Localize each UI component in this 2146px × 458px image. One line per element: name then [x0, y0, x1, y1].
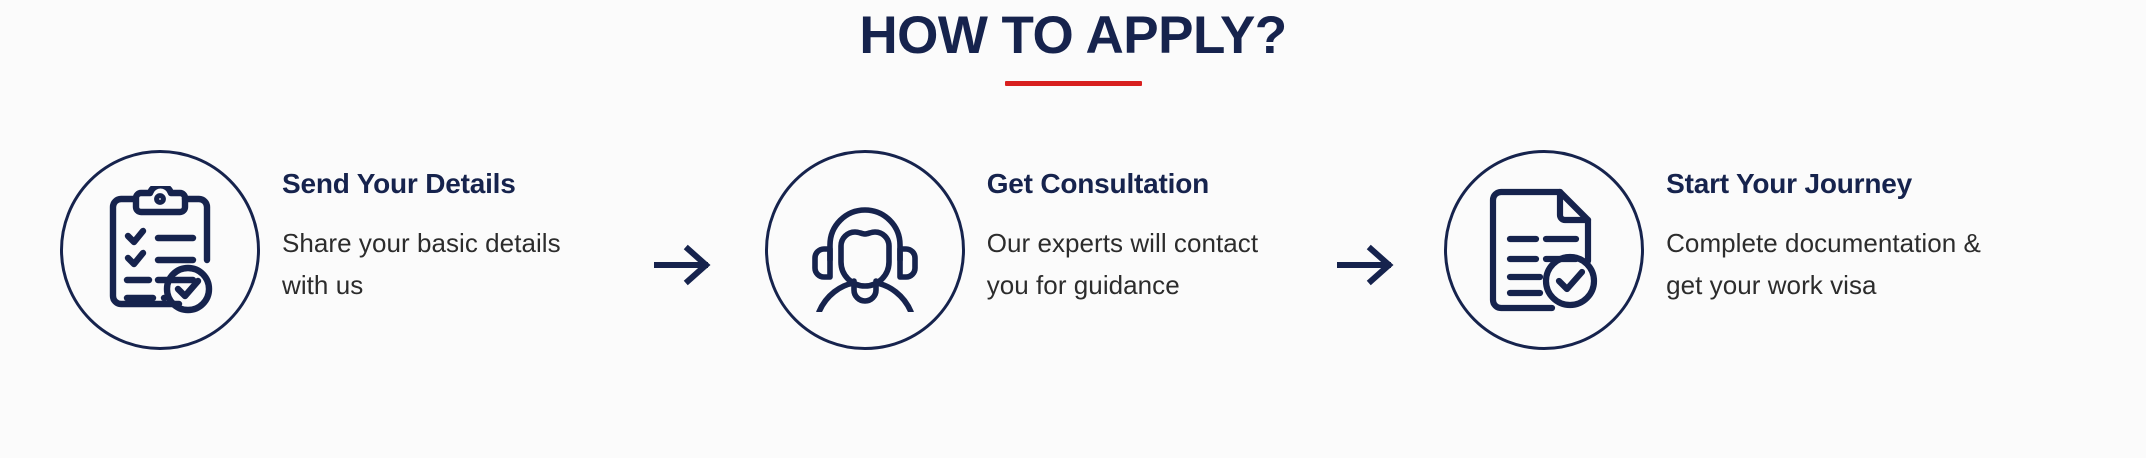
step-description-line: you for guidance — [987, 264, 1258, 306]
step-description: Share your basic details with us — [282, 222, 561, 306]
step-start-your-journey: Start Your Journey Complete documentatio… — [1444, 148, 1981, 350]
document-check-icon — [1444, 150, 1644, 350]
step-text-block: Get Consultation Our experts will contac… — [965, 148, 1258, 306]
step-title: Send Your Details — [282, 168, 561, 200]
step-description: Complete documentation & get your work v… — [1666, 222, 1981, 306]
step-title: Start Your Journey — [1666, 168, 1981, 200]
step-description-line: Our experts will contact — [987, 222, 1258, 264]
connector-arrow-2 — [1318, 148, 1414, 288]
section-header: HOW TO APPLY? — [0, 0, 2146, 130]
headset-support-agent-icon — [765, 150, 965, 350]
step-description: Our experts will contact you for guidanc… — [987, 222, 1258, 306]
page-title: HOW TO APPLY? — [859, 8, 1286, 64]
step-description-line: Share your basic details — [282, 222, 561, 264]
step-description-line: with us — [282, 264, 561, 306]
step-get-consultation: Get Consultation Our experts will contac… — [765, 148, 1258, 350]
step-title: Get Consultation — [987, 168, 1258, 200]
step-description-line: get your work visa — [1666, 264, 1981, 306]
title-underline-accent — [1005, 81, 1142, 86]
clipboard-checklist-icon — [60, 150, 260, 350]
connector-arrow-1 — [635, 148, 731, 288]
step-description-line: Complete documentation & — [1666, 222, 1981, 264]
step-text-block: Start Your Journey Complete documentatio… — [1644, 148, 1981, 306]
step-text-block: Send Your Details Share your basic detai… — [260, 148, 561, 306]
how-to-apply-steps: Send Your Details Share your basic detai… — [0, 148, 2146, 438]
step-send-your-details: Send Your Details Share your basic detai… — [0, 148, 561, 350]
